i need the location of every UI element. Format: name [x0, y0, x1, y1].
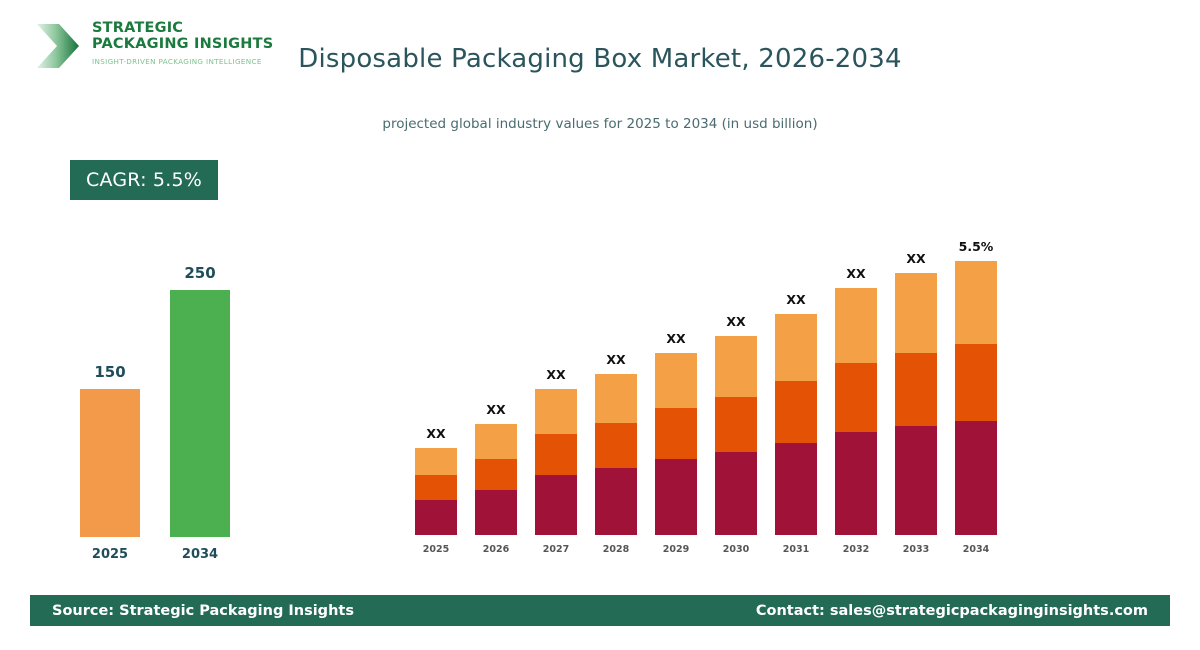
bar-segment-segment-3: [655, 353, 697, 408]
bar-segment-segment-2: [535, 434, 577, 475]
bar-segment-segment-1: [835, 432, 877, 535]
stacked-bar-rect: [715, 336, 757, 535]
page-subtitle: projected global industry values for 202…: [0, 116, 1200, 132]
logo-line-1: STRATEGIC: [92, 20, 273, 36]
x-axis-tick-2031: 2031: [775, 544, 817, 555]
x-axis-tick-2027: 2027: [535, 544, 577, 555]
bar-segment-segment-1: [895, 426, 937, 535]
stacked-bar-rect: [475, 424, 517, 535]
x-axis-tick-2026: 2026: [475, 544, 517, 555]
bar-top-label-2026: XX: [466, 402, 526, 417]
bar-segment-segment-1: [775, 443, 817, 535]
x-axis-tick-2029: 2029: [655, 544, 697, 555]
stacked-column-2026: XX2026: [475, 200, 517, 565]
stacked-column-2031: XX2031: [775, 200, 817, 565]
bar-segment-segment-1: [655, 459, 697, 535]
bar-segment-segment-3: [475, 424, 517, 459]
bar-segment-segment-2: [655, 408, 697, 459]
x-axis-tick-2030: 2030: [715, 544, 757, 555]
stacked-bar-chart: XX2025XX2026XX2027XX2028XX2029XX2030XX20…: [405, 200, 1025, 565]
stacked-bar-rect: [955, 261, 997, 535]
bar-top-label-2027: XX: [526, 367, 586, 382]
x-axis-tick-2028: 2028: [595, 544, 637, 555]
bar-rect: [80, 389, 140, 537]
footer-source: Source: Strategic Packaging Insights: [52, 603, 354, 619]
bar-rect: [170, 290, 230, 537]
stacked-column-2033: XX2033: [895, 200, 937, 565]
x-axis-tick-2034: 2034: [955, 544, 997, 555]
bar-top-label-2034: 5.5%: [946, 239, 1006, 254]
bar-segment-segment-2: [895, 353, 937, 426]
bar-top-label-2025: XX: [406, 426, 466, 441]
bar-segment-segment-3: [895, 273, 937, 353]
bar-segment-segment-1: [955, 421, 997, 535]
bar-segment-segment-2: [955, 344, 997, 421]
stacked-bar-rect: [775, 314, 817, 535]
bar-top-label-2032: XX: [826, 266, 886, 281]
bar-top-label-2031: XX: [766, 292, 826, 307]
stacked-column-2028: XX2028: [595, 200, 637, 565]
bar-top-label-2030: XX: [706, 314, 766, 329]
stacked-column-2029: XX2029: [655, 200, 697, 565]
x-axis-tick-2033: 2033: [895, 544, 937, 555]
stacked-column-2032: XX2032: [835, 200, 877, 565]
bar-segment-segment-3: [715, 336, 757, 397]
bar-value-label: 250: [170, 264, 230, 282]
bar-top-label-2029: XX: [646, 331, 706, 346]
bar-segment-segment-3: [535, 389, 577, 434]
bar-segment-segment-2: [835, 363, 877, 432]
bar-segment-segment-3: [835, 288, 877, 363]
bar-segment-segment-3: [775, 314, 817, 381]
x-axis-tick-2025: 2025: [415, 544, 457, 555]
bar-segment-segment-1: [415, 500, 457, 535]
bar-segment-segment-1: [475, 490, 517, 535]
comparison-chart: 15020252502034: [60, 230, 260, 570]
stacked-bar-rect: [415, 448, 457, 535]
stacked-bar-rect: [595, 374, 637, 535]
bar-value-label: 150: [80, 363, 140, 381]
stacked-bar-rect: [895, 273, 937, 535]
bar-segment-segment-1: [715, 452, 757, 535]
bar-segment-segment-2: [715, 397, 757, 452]
bar-segment-segment-1: [535, 475, 577, 535]
bar-segment-segment-2: [595, 423, 637, 468]
stacked-column-2034: 5.5%2034: [955, 200, 997, 565]
stacked-column-2030: XX2030: [715, 200, 757, 565]
footer-bar: Source: Strategic Packaging Insights Con…: [30, 595, 1170, 626]
stacked-bar-rect: [535, 389, 577, 535]
bar-segment-segment-3: [595, 374, 637, 423]
bar-segment-segment-2: [475, 459, 517, 490]
bar-segment-segment-3: [955, 261, 997, 344]
x-axis-tick-2034: 2034: [170, 547, 230, 562]
bar-segment-segment-2: [775, 381, 817, 443]
page-title: Disposable Packaging Box Market, 2026-20…: [0, 44, 1200, 74]
bar-segment-segment-3: [415, 448, 457, 475]
bar-segment-segment-2: [415, 475, 457, 500]
cagr-badge: CAGR: 5.5%: [70, 160, 218, 200]
comparison-bar-2034: [170, 290, 230, 537]
x-axis-tick-2025: 2025: [80, 547, 140, 562]
footer-contact: Contact: sales@strategicpackaginginsight…: [756, 603, 1148, 619]
x-axis-tick-2032: 2032: [835, 544, 877, 555]
comparison-bar-2025: [80, 389, 140, 537]
bar-top-label-2033: XX: [886, 251, 946, 266]
bar-segment-segment-1: [595, 468, 637, 535]
stacked-column-2025: XX2025: [415, 200, 457, 565]
stacked-bar-rect: [835, 288, 877, 535]
stacked-column-2027: XX2027: [535, 200, 577, 565]
bar-top-label-2028: XX: [586, 352, 646, 367]
stacked-bar-rect: [655, 353, 697, 535]
